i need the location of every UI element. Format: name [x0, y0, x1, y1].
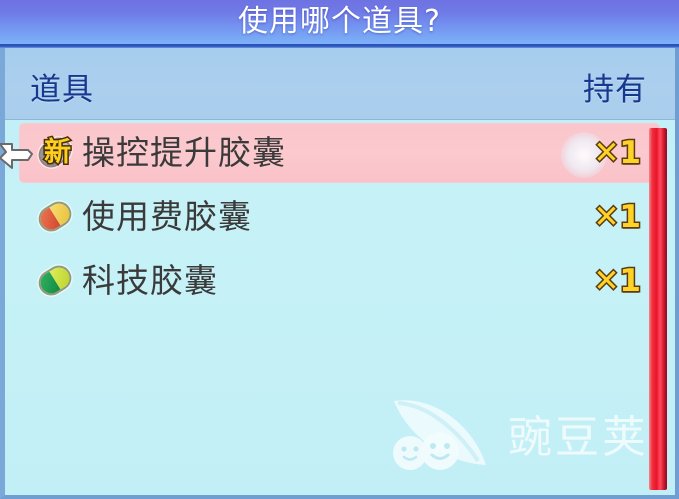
watermark: 豌豆荚: [380, 385, 649, 481]
watermark-text: 豌豆荚: [508, 401, 649, 465]
list-item-quantity: ✕1: [593, 130, 641, 176]
capsule-icon-green: [36, 264, 74, 298]
list-item-label: 使用费胶囊: [82, 191, 252, 243]
list-item[interactable]: 使用费胶囊 ✕1: [20, 188, 659, 246]
column-header-held: 持有: [583, 64, 647, 109]
item-list[interactable]: 新 操控提升胶囊 ✕1 使用费胶囊 ✕1: [5, 124, 675, 316]
pea-pod-logo-icon: [380, 389, 498, 477]
list-item-label: 科技胶囊: [82, 255, 218, 307]
item-list-panel: 道具 持有 新 操控提升胶囊 ✕1: [0, 48, 679, 499]
capsule-icon-orange: [36, 200, 74, 234]
list-header-band: 道具 持有: [5, 48, 675, 120]
hand-pointer-cursor: [0, 140, 38, 176]
list-item-quantity: ✕1: [593, 258, 641, 304]
new-item-badge: 新: [44, 134, 71, 172]
dialog-title-bar: 使用哪个道具?: [0, 0, 679, 45]
list-item[interactable]: 新 操控提升胶囊 ✕1: [20, 124, 659, 182]
game-item-selection-screen: 使用哪个道具? 道具 持有 新 操控提升胶囊 ✕1: [0, 0, 679, 499]
list-item-quantity: ✕1: [593, 194, 641, 240]
list-item-label: 操控提升胶囊: [82, 127, 286, 179]
dialog-title: 使用哪个道具?: [0, 0, 679, 45]
column-header-item: 道具: [30, 64, 94, 109]
scrollbar-thumb[interactable]: [649, 128, 667, 490]
list-item[interactable]: 科技胶囊 ✕1: [20, 252, 659, 310]
